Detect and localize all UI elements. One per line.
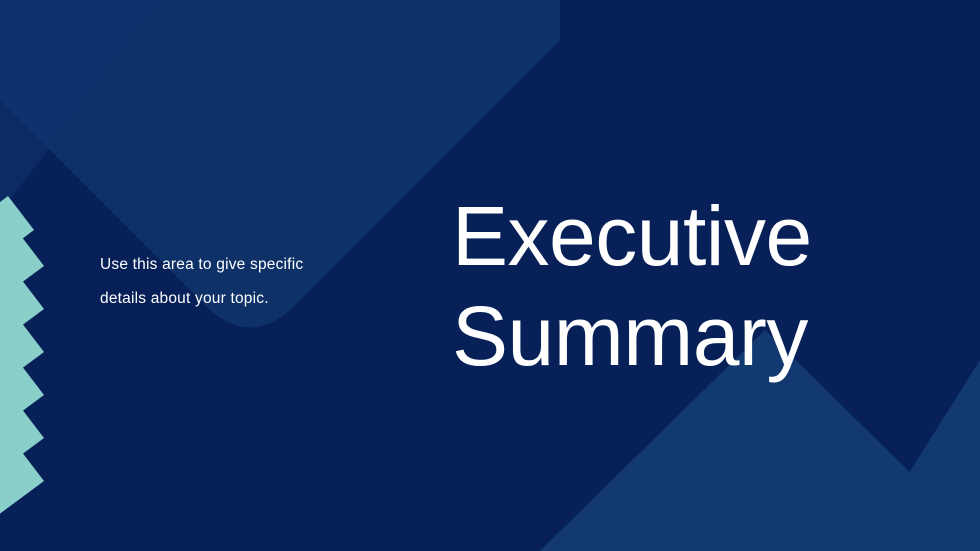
title-line-1: Executive	[452, 186, 952, 286]
subtitle-line-1: Use this area to give specific	[100, 248, 390, 282]
title-line-2: Summary	[452, 286, 952, 386]
subtitle-line-2: details about your topic.	[100, 282, 390, 316]
subtitle-block: Use this area to give specific details a…	[100, 248, 390, 316]
page-title: Executive Summary	[452, 186, 952, 386]
slide-canvas: Use this area to give specific details a…	[0, 0, 980, 551]
